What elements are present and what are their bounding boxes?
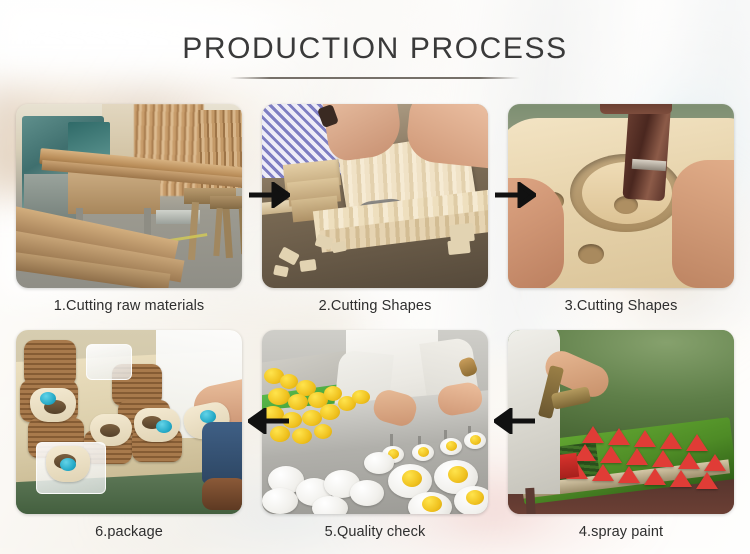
photo-cutting-raw-materials [16, 104, 242, 288]
step-5-caption: 5.Quality check [262, 524, 488, 540]
photo-quality-check [262, 330, 488, 514]
title-underline [230, 77, 520, 79]
process-step-3[interactable]: 3.Cutting Shapes [508, 104, 734, 314]
process-row-top: 1.Cutting raw materials [16, 104, 734, 314]
arrow-step5-from-step4-icon [494, 408, 536, 434]
process-step-2[interactable]: 2.Cutting Shapes [262, 104, 488, 314]
production-process-banner: PRODUCTION PROCESS [0, 0, 750, 554]
photo-cutting-shapes-saw [262, 104, 488, 288]
process-step-5[interactable]: 5.Quality check [262, 330, 488, 540]
process-step-6[interactable]: 6.package [16, 330, 242, 540]
photo-cutting-shapes-router [508, 104, 734, 288]
arrow-step2-to-step3-icon [494, 182, 536, 208]
step-2-caption: 2.Cutting Shapes [262, 298, 488, 314]
process-row-bottom: 6.package [16, 330, 734, 540]
step-1-caption: 1.Cutting raw materials [16, 298, 242, 314]
process-step-1[interactable]: 1.Cutting raw materials [16, 104, 242, 314]
photo-package [16, 330, 242, 514]
arrow-step6-from-step5-icon [248, 408, 290, 434]
process-grid: 1.Cutting raw materials [16, 104, 734, 540]
step-4-caption: 4.spray paint [508, 524, 734, 540]
header: PRODUCTION PROCESS [0, 32, 750, 79]
step-6-caption: 6.package [16, 524, 242, 540]
page-title: PRODUCTION PROCESS [0, 32, 750, 65]
photo-spray-paint [508, 330, 734, 514]
arrow-step1-to-step2-icon [248, 182, 290, 208]
process-step-4[interactable]: 4.spray paint [508, 330, 734, 540]
step-3-caption: 3.Cutting Shapes [508, 298, 734, 314]
